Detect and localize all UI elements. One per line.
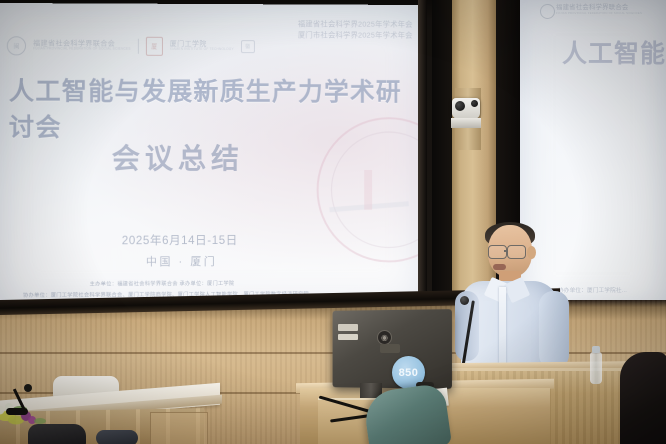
camera-sensor-icon xyxy=(471,100,478,107)
dais-microphone-head-icon xyxy=(24,384,32,392)
audience-member-right xyxy=(620,352,666,444)
speaker-glasses-left-lens xyxy=(488,245,507,259)
slide-logo-row: 闽 福建省社会科学界联合会 FUJIAN PROVINCIAL FEDERATI… xyxy=(7,36,255,56)
monitor-mount-arm xyxy=(380,344,400,353)
xiamen-institute-name-en: XIAMEN INSTITUTE OF TECHNOLOGY xyxy=(170,48,234,52)
xiamen-institute-seal-icon: 厦 xyxy=(146,37,163,56)
slide-decorative-arc xyxy=(270,100,419,280)
monitor-asset-label-1 xyxy=(338,324,358,331)
fujian-federation-logo-text: 福建省社会科学界联合会 FUJIAN PROVINCIAL FEDERATION… xyxy=(33,41,131,52)
xiamen-institute-logo-text: 厦门工学院 XIAMEN INSTITUTE OF TECHNOLOGY xyxy=(170,41,234,52)
right-org-name: 福建省社会科学界联合会 xyxy=(556,4,629,11)
fujian-federation-name-en: FUJIAN PROVINCIAL FEDERATION OF SOCIAL S… xyxy=(33,48,131,52)
header-line-province: 福建省社会科学界2025年学术年会 xyxy=(298,18,413,30)
right-screen-org-text: 福建省社会科学界联合会 FUJIAN PROVINCIAL FEDERATION… xyxy=(556,4,642,15)
logo-divider xyxy=(138,39,139,54)
right-screen-title: 人工智能 xyxy=(562,34,666,70)
right-org-name-en: FUJIAN PROVINCIAL FEDERATION OF SOCIAL S… xyxy=(556,12,642,15)
slide-date: 2025年6月14日-15日 xyxy=(122,232,238,248)
camera-lens-icon xyxy=(455,101,465,111)
conference-photo-scene: 闽 福建省社会科学界联合会 FUJIAN PROVINCIAL FEDERATI… xyxy=(0,0,666,444)
fujian-federation-seal-icon: 闽 xyxy=(7,36,26,55)
dais-microphone-base xyxy=(6,408,28,415)
speaker-ear xyxy=(527,246,536,259)
left-screen-bezel xyxy=(418,0,427,312)
podium-microphone-head-icon xyxy=(460,296,469,305)
left-projection-screen: 闽 福建省社会科学界联合会 FUJIAN PROVINCIAL FEDERATI… xyxy=(0,3,424,311)
speaker-mouth xyxy=(493,264,506,270)
water-bottle-cap xyxy=(592,346,600,353)
dell-logo-icon: ◉ xyxy=(377,330,392,345)
speaker-right-arm xyxy=(539,291,569,369)
monitor-asset-label-2 xyxy=(338,334,358,340)
slide-place: 中国 · 厦门 xyxy=(146,253,217,269)
pillar-shadow-left xyxy=(432,0,454,312)
slide-organizer-line: 主办单位：福建省社会科学界联合会 承办单位：厦门工学院 xyxy=(90,280,235,288)
camera-base-bracket xyxy=(451,118,481,128)
left-slide-content: 闽 福建省社会科学界联合会 FUJIAN PROVINCIAL FEDERATI… xyxy=(0,3,424,311)
slide-subtitle: 会议总结 xyxy=(112,137,244,177)
slide-header-lines: 福建省社会科学界2025年学术年会 厦门市社会科学界2025年学术年会 xyxy=(298,18,413,41)
foreground-object-left xyxy=(28,424,86,444)
water-bottle xyxy=(590,352,602,384)
foreground-object-center-left xyxy=(96,430,138,444)
right-screen-seal-icon xyxy=(540,4,555,19)
left-dais-panel xyxy=(150,412,208,444)
speaker-glasses-right-lens xyxy=(507,245,526,259)
anniversary-badge-icon: 徽 xyxy=(241,40,255,53)
speaker-glasses-bridge xyxy=(504,250,508,252)
header-line-city: 厦门市社会科学界2025年学术年会 xyxy=(298,30,413,42)
